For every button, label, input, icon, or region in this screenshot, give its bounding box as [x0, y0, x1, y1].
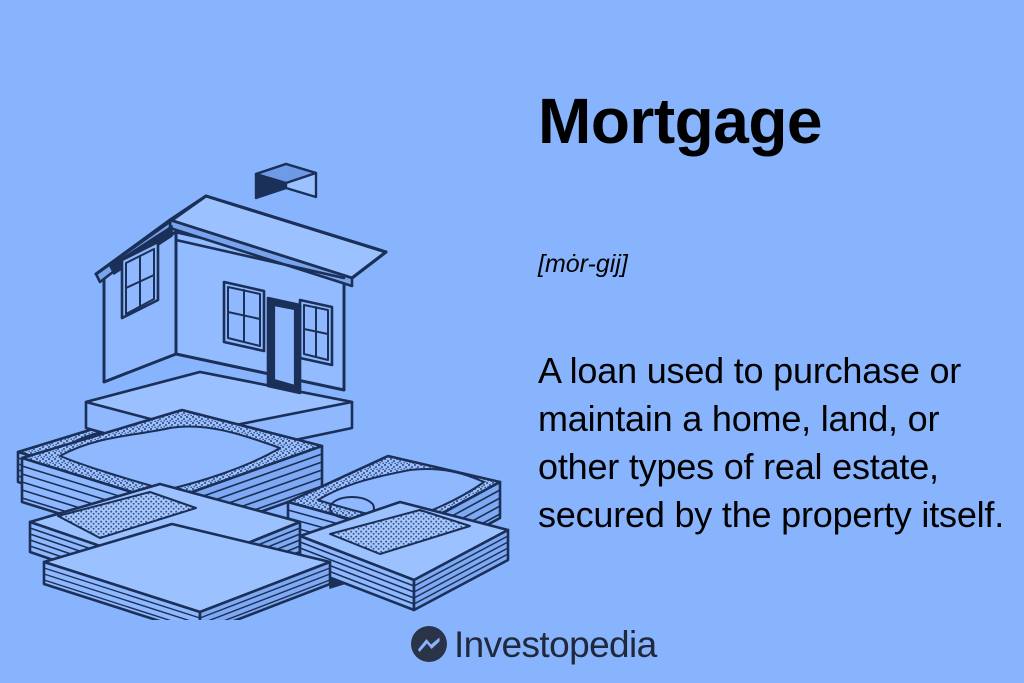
definition-text: A loan used to purchase or maintain a ho… — [538, 347, 1006, 539]
text-column: Mortgage [mȯr-gij] A loan used to purcha… — [538, 0, 1008, 683]
window-center — [224, 282, 264, 351]
front-door — [268, 298, 300, 393]
house — [86, 164, 386, 460]
investopedia-mark-icon — [410, 625, 448, 663]
house-on-money-stacks-illustration — [0, 110, 520, 620]
chimney — [256, 164, 316, 198]
investopedia-wordmark: Investopedia — [454, 626, 657, 663]
investopedia-logo: Investopedia — [410, 621, 657, 667]
pronunciation-text: [mȯr-gij] — [538, 250, 628, 279]
page-title: Mortgage — [538, 88, 822, 155]
definition-card: Mortgage [mȯr-gij] A loan used to purcha… — [0, 0, 1024, 683]
window-right — [300, 300, 332, 365]
